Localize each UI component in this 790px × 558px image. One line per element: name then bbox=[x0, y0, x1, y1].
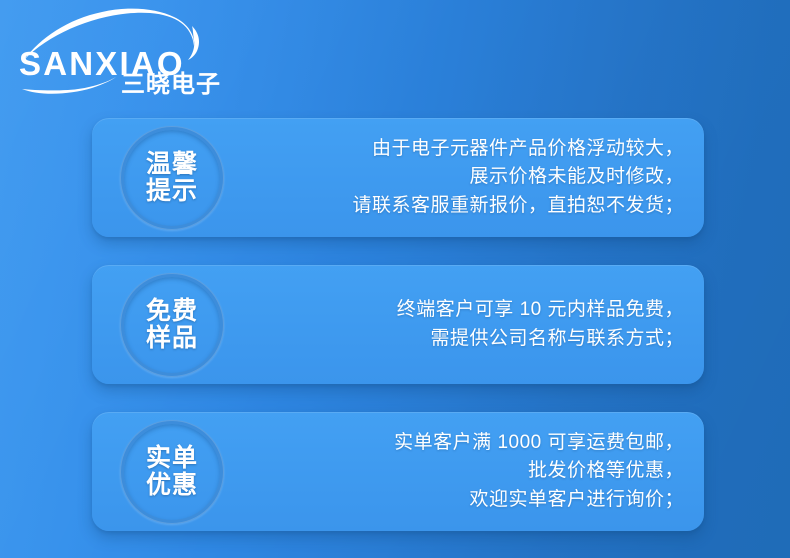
notice-card-warm-tip[interactable]: 温馨 提示 由于电子元器件产品价格浮动较大， 展示价格未能及时修改， 请联系客服… bbox=[92, 118, 704, 237]
notice-line: 批发价格等优惠， bbox=[252, 457, 684, 485]
notice-text-warm-tip: 由于电子元器件产品价格浮动较大， 展示价格未能及时修改， 请联系客服重新报价，直… bbox=[252, 135, 704, 219]
badge-label-line1: 实单 bbox=[146, 445, 198, 472]
badge-circle-free-sample: 免费 样品 bbox=[120, 273, 224, 377]
notice-line: 终端客户可享 10 元内样品免费， bbox=[252, 296, 684, 324]
notice-line: 需提供公司名称与联系方式； bbox=[252, 325, 684, 353]
brand-logo[interactable]: SANXIAO 三晓电子 bbox=[16, 6, 246, 98]
notice-line: 欢迎实单客户进行询价； bbox=[252, 486, 684, 514]
notice-line: 实单客户满 1000 可享运费包邮， bbox=[252, 429, 684, 457]
notice-card-free-sample[interactable]: 免费 样品 终端客户可享 10 元内样品免费， 需提供公司名称与联系方式； bbox=[92, 265, 704, 384]
sanxiao-logo-mark: SANXIAO 三晓电子 bbox=[16, 6, 246, 98]
badge-label-line2: 优惠 bbox=[146, 472, 198, 499]
badge-wrap-2: 免费 样品 bbox=[92, 265, 252, 384]
badge-circle-warm-tip: 温馨 提示 bbox=[120, 126, 224, 230]
notice-text-bulk-discount: 实单客户满 1000 可享运费包邮， 批发价格等优惠， 欢迎实单客户进行询价； bbox=[252, 429, 704, 513]
badge-circle-bulk-discount: 实单 优惠 bbox=[120, 420, 224, 524]
badge-wrap-3: 实单 优惠 bbox=[92, 412, 252, 531]
badge-label-line1: 温馨 bbox=[146, 151, 198, 178]
notice-line: 展示价格未能及时修改， bbox=[252, 163, 684, 191]
notice-line: 由于电子元器件产品价格浮动较大， bbox=[252, 135, 684, 163]
logo-chinese-name: 三晓电子 bbox=[121, 70, 221, 98]
badge-label-line2: 样品 bbox=[146, 325, 198, 352]
page-background: SANXIAO 三晓电子 温馨 提示 由于电子元器件产品价格浮动较大， 展示价格… bbox=[0, 0, 790, 558]
notice-card-bulk-discount[interactable]: 实单 优惠 实单客户满 1000 可享运费包邮， 批发价格等优惠， 欢迎实单客户… bbox=[92, 412, 704, 531]
badge-wrap-1: 温馨 提示 bbox=[92, 118, 252, 237]
badge-label-line2: 提示 bbox=[146, 178, 198, 205]
notice-text-free-sample: 终端客户可享 10 元内样品免费， 需提供公司名称与联系方式； bbox=[252, 296, 704, 352]
notice-line: 请联系客服重新报价，直拍恕不发货； bbox=[252, 192, 684, 220]
badge-label-line1: 免费 bbox=[146, 298, 198, 325]
